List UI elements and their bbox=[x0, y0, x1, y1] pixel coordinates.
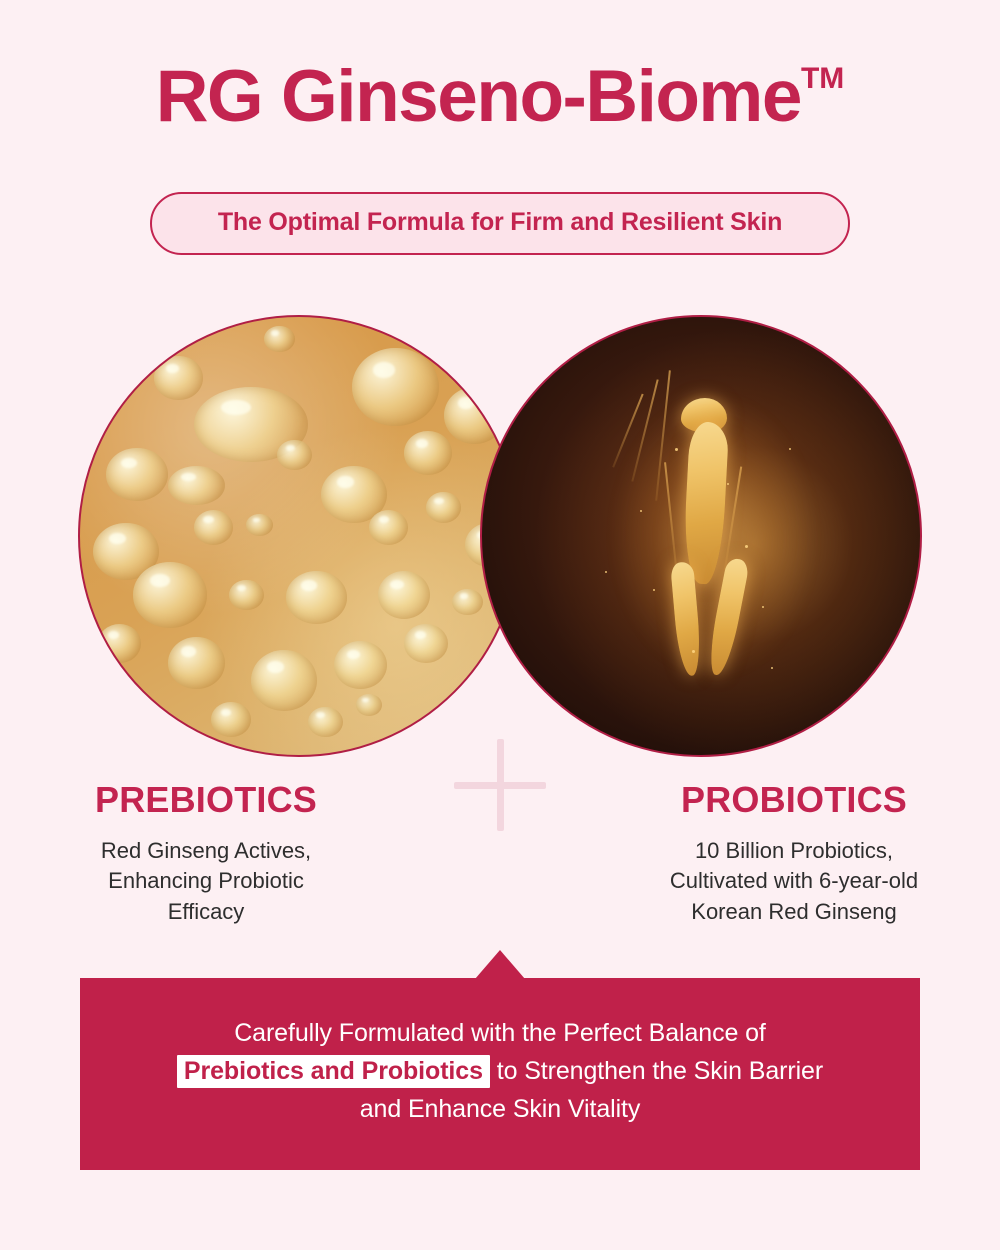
banner-line-3: and Enhance Skin Vitality bbox=[80, 1090, 920, 1128]
prebiotics-heading: PREBIOTICS bbox=[0, 780, 412, 820]
banner-line-2: Prebiotics and Probiotics to Strengthen … bbox=[80, 1052, 920, 1090]
tagline-badge: The Optimal Formula for Firm and Resilie… bbox=[150, 192, 850, 255]
probiotics-description: 10 Billion Probiotics, Cultivated with 6… bbox=[588, 836, 1000, 928]
probiotics-image bbox=[480, 315, 922, 757]
column-probiotics: PROBIOTICS 10 Billion Probiotics, Cultiv… bbox=[500, 780, 1000, 928]
page-title: RG Ginseno-BiomeTM bbox=[156, 60, 845, 133]
product-infographic: RG Ginseno-BiomeTM The Optimal Formula f… bbox=[0, 0, 1000, 1250]
probiotics-heading: PROBIOTICS bbox=[588, 780, 1000, 820]
summary-banner-text: Carefully Formulated with the Perfect Ba… bbox=[80, 1014, 920, 1128]
ingredient-columns: PREBIOTICS Red Ginseng Actives, Enhancin… bbox=[0, 780, 1000, 928]
banner-notch-triangle bbox=[475, 950, 525, 979]
ginseng-root-icon bbox=[482, 317, 920, 755]
ingredient-images bbox=[0, 315, 1000, 757]
page-title-text: RG Ginseno-Biome bbox=[156, 56, 801, 137]
banner-line-1: Carefully Formulated with the Perfect Ba… bbox=[80, 1014, 920, 1052]
summary-banner: Carefully Formulated with the Perfect Ba… bbox=[80, 978, 920, 1170]
tagline-text: The Optimal Formula for Firm and Resilie… bbox=[198, 208, 802, 237]
trademark-mark: TM bbox=[801, 62, 844, 95]
banner-line-2-tail: to Strengthen the Skin Barrier bbox=[490, 1057, 823, 1085]
header-block: RG Ginseno-BiomeTM bbox=[0, 60, 1000, 133]
prebiotics-image bbox=[78, 315, 520, 757]
prebiotics-description: Red Ginseng Actives, Enhancing Probiotic… bbox=[0, 836, 412, 928]
column-prebiotics: PREBIOTICS Red Ginseng Actives, Enhancin… bbox=[0, 780, 500, 928]
banner-highlight: Prebiotics and Probiotics bbox=[177, 1055, 490, 1088]
